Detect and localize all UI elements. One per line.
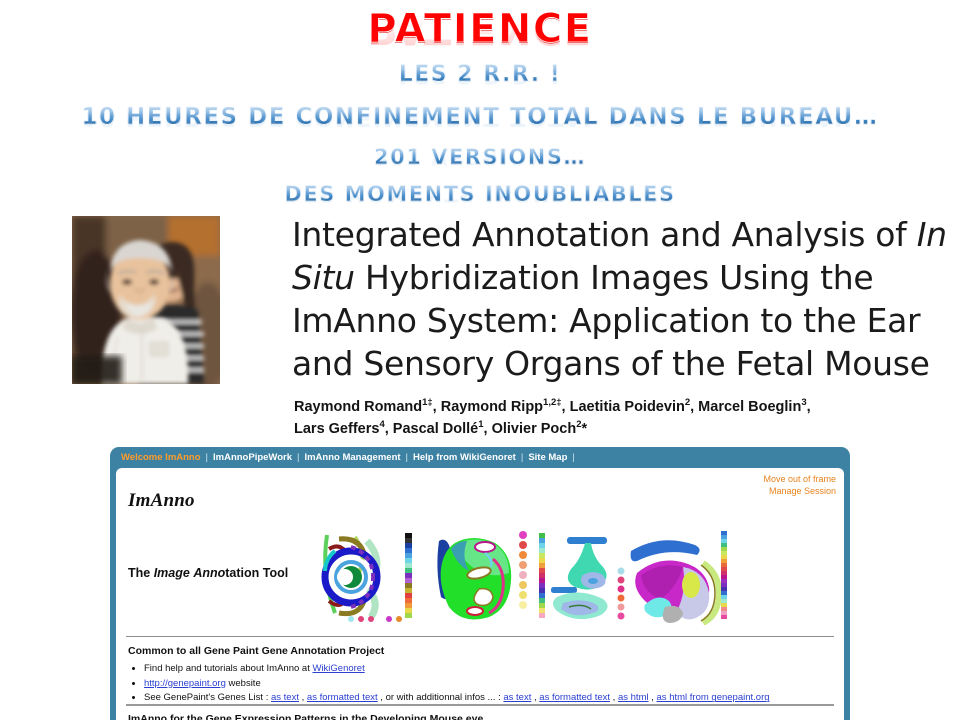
- bullet-item-help: Find help and tutorials about ImAnno at …: [144, 662, 834, 677]
- heading-patience-row: PATIENCE PATIENCE: [0, 6, 960, 52]
- heading-les2rr: LES 2 R.R. ! LES 2 R.R. !: [399, 62, 562, 87]
- author-romand: Raymond Romand: [294, 399, 422, 415]
- paper-authors: Raymond Romand1‡, Raymond Ripp1,2‡, Laet…: [294, 396, 874, 440]
- genes-as-html-link[interactable]: as html: [618, 692, 649, 703]
- genepaint-url-link[interactable]: http://genepaint.org: [144, 678, 226, 689]
- heading-moments-face: DES MOMENTS INOUBLIABLES: [284, 182, 675, 206]
- author-romand-sup: 1‡: [422, 397, 433, 408]
- author-boeglin: , Marcel Boeglin: [690, 399, 801, 415]
- genes-sep-4: ,: [649, 692, 657, 703]
- group-photo: [72, 216, 220, 384]
- paper-title: Integrated Annotation and Analysis of In…: [292, 214, 952, 386]
- divider-top: [126, 636, 834, 637]
- corner-links: Move out of frame Manage Session: [763, 473, 836, 497]
- wikigenoret-link[interactable]: WikiGenoret: [312, 663, 364, 674]
- genes-sep-3: ,: [610, 692, 618, 703]
- imanno-app-frame: Welcome ImAnno | ImAnnoPipeWork | ImAnno…: [110, 447, 850, 720]
- annotation-images: [301, 525, 736, 625]
- author-geffers: Lars Geffers: [294, 421, 379, 437]
- author-poidevin: , Laetitia Poidevin: [562, 399, 685, 415]
- section-heading-common: Common to all Gene Paint Gene Annotation…: [128, 645, 384, 657]
- genes-as-text-link[interactable]: as text: [271, 692, 299, 703]
- group-photo-image: [72, 216, 220, 384]
- author-poch: , Olivier Poch: [484, 421, 577, 437]
- nav-item-imannopipework[interactable]: ImAnnoPipeWork: [208, 452, 297, 463]
- genes-as-html-genepaint-link[interactable]: as html from genepaint.org: [657, 692, 770, 703]
- tagline-anno-italic: Anno: [193, 566, 225, 580]
- author-ripp: , Raymond Ripp: [433, 399, 543, 415]
- heading-versions-row: 201 VERSIONS… 201 VERSIONS…: [0, 145, 960, 169]
- heading-versions: 201 VERSIONS… 201 VERSIONS…: [374, 145, 586, 169]
- tagline-image-italic: Image: [154, 566, 190, 580]
- nav-item-site-map[interactable]: Site Map: [523, 452, 572, 463]
- color-legend-bar-1: [405, 533, 412, 618]
- author-comma: ,: [807, 399, 811, 415]
- genes-sep-1: ,: [299, 692, 307, 703]
- bullet-list-container: Find help and tutorials about ImAnno at …: [130, 662, 834, 706]
- genes-infos-as-text-link[interactable]: as text: [503, 692, 531, 703]
- nav-item-welcome-imanno[interactable]: Welcome ImAnno: [116, 452, 206, 463]
- author-corresponding-mark: *: [582, 421, 588, 437]
- heading-versions-face: 201 VERSIONS…: [374, 145, 586, 169]
- nav-separator: |: [572, 452, 574, 463]
- slide-canvas: PATIENCE PATIENCE LES 2 R.R. ! LES 2 R.R…: [0, 0, 960, 720]
- manage-session-link[interactable]: Manage Session: [763, 485, 836, 497]
- bullet-list: Find help and tutorials about ImAnno at …: [130, 662, 834, 706]
- nav-item-imanno-management[interactable]: ImAnno Management: [299, 452, 405, 463]
- nav-item-help-wikigenoret[interactable]: Help from WikiGenoret: [408, 452, 521, 463]
- genes-mid-text: , or with additionnal infos ... :: [378, 692, 504, 703]
- genes-infos-as-formatted-text-link[interactable]: as formatted text: [539, 692, 610, 703]
- heading-patience: PATIENCE PATIENCE: [367, 6, 592, 52]
- move-out-of-frame-link[interactable]: Move out of frame: [763, 473, 836, 485]
- imanno-page: Move out of frame Manage Session ImAnno …: [116, 468, 844, 720]
- heading-moments-row: DES MOMENTS INOUBLIABLES DES MOMENTS INO…: [0, 182, 960, 206]
- heading-patience-face: PATIENCE: [367, 6, 592, 52]
- author-ripp-sup: 1,2‡: [543, 397, 562, 408]
- paper-title-part2: Hybridization Images Using the ImAnno Sy…: [292, 258, 930, 383]
- heading-confinement-face: 10 HEURES DE CONFINEMENT TOTAL DANS LE B…: [81, 104, 878, 130]
- color-legend-bar-2: [539, 533, 545, 618]
- annotation-image-strip: [301, 525, 736, 625]
- heading-les2rr-face: LES 2 R.R. !: [399, 62, 562, 87]
- tagline-post: tation Tool: [225, 566, 288, 580]
- paper-title-part1: Integrated Annotation and Analysis of: [292, 215, 917, 254]
- imanno-navbar: Welcome ImAnno | ImAnnoPipeWork | ImAnno…: [112, 449, 848, 466]
- tagline-pre: The: [128, 566, 154, 580]
- imanno-logo: ImAnno: [128, 490, 195, 512]
- author-dolle: , Pascal Dollé: [385, 421, 479, 437]
- color-legend-bar-3: [721, 531, 727, 619]
- genes-as-formatted-text-link[interactable]: as formatted text: [307, 692, 378, 703]
- bullet-genes-pre: See GenePaint's Genes List :: [144, 692, 271, 703]
- tool-tagline: The Image Annotation Tool: [128, 566, 288, 580]
- heading-confinement-row: 10 HEURES DE CONFINEMENT TOTAL DANS LE B…: [0, 104, 960, 130]
- heading-les2rr-row: LES 2 R.R. ! LES 2 R.R. !: [0, 62, 960, 87]
- heading-moments: DES MOMENTS INOUBLIABLES DES MOMENTS INO…: [284, 182, 675, 206]
- bullet-item-genepaint: http://genepaint.org website: [144, 677, 834, 692]
- bullet-help-text: Find help and tutorials about ImAnno at: [144, 663, 312, 674]
- bullet-genepaint-text: website: [226, 678, 261, 689]
- heading-confinement: 10 HEURES DE CONFINEMENT TOTAL DANS LE B…: [81, 104, 878, 130]
- section-heading-mouse-eye: ImAnno for the Gene Expression Patterns …: [128, 713, 483, 720]
- divider-bottom: [126, 704, 834, 706]
